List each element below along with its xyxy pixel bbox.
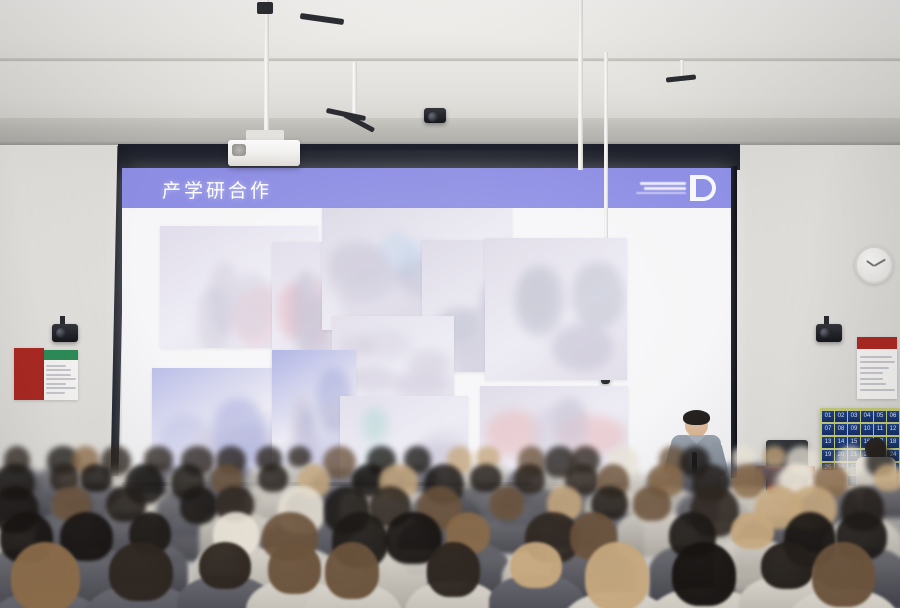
presenter-hair <box>683 410 710 425</box>
pocket-slot: 04 <box>861 411 873 422</box>
audience-shoulders <box>89 512 163 559</box>
logo-text-line-3 <box>636 192 686 194</box>
photo-shape <box>519 272 555 325</box>
institute-logo <box>612 174 716 202</box>
audience-shoulders <box>199 511 271 556</box>
pocket-slot: 12 <box>887 424 899 435</box>
pocket-slot: 11 <box>874 424 886 435</box>
slide-photo <box>340 396 468 482</box>
audience-shoulders <box>304 521 389 583</box>
audience-head <box>0 512 53 563</box>
pocket-slot: 14 <box>835 437 847 448</box>
photo-shape <box>359 330 411 359</box>
photo-shape <box>408 349 448 378</box>
poster-text-line <box>46 392 65 394</box>
poster-header <box>857 337 897 349</box>
slide-photo <box>480 386 628 482</box>
photo-shape <box>197 286 232 348</box>
audience-shoulders <box>649 545 735 605</box>
projector-pole <box>264 0 269 142</box>
poster-text-line <box>860 361 895 363</box>
audience-head <box>60 512 113 561</box>
photo-shape <box>299 409 318 478</box>
safety-notice-poster <box>857 337 897 399</box>
photo-shape <box>209 262 239 335</box>
photo-shape <box>419 429 465 475</box>
audience-shoulders <box>246 580 344 608</box>
ceiling-rod-1 <box>352 62 357 120</box>
audience-head <box>427 542 479 597</box>
audience-shoulders <box>37 547 135 608</box>
chair-right-1 <box>818 470 848 506</box>
slide-title: 产学研合作 <box>162 176 272 203</box>
audience-shoulders <box>164 513 232 562</box>
audience-head <box>213 512 260 556</box>
poster-text-line <box>860 372 883 374</box>
pocket-row: 010203040506 <box>822 411 900 422</box>
ceiling-projector <box>228 140 300 166</box>
audience-head <box>109 542 173 601</box>
photo-shape <box>553 398 586 443</box>
poster-header <box>44 350 78 360</box>
photo-shape <box>572 262 624 328</box>
audience-head <box>570 512 617 560</box>
seated-person-right <box>856 438 896 494</box>
audience-shoulders <box>0 592 109 608</box>
photo-shape <box>212 398 265 465</box>
audience-head <box>510 542 562 588</box>
audience-head <box>11 542 80 608</box>
poster-text-line <box>46 383 66 385</box>
logo-text-line-2 <box>644 187 686 190</box>
poster-text-line <box>860 356 892 358</box>
pocket-row: 070809101112 <box>822 424 900 435</box>
audience-shoulders <box>533 510 597 554</box>
audience-head <box>129 512 171 554</box>
pocket-slot: 19 <box>822 450 834 461</box>
photo-shape <box>552 324 613 371</box>
handheld-microphone <box>692 452 697 474</box>
audience-shoulders <box>193 544 279 602</box>
slide-photo <box>485 238 627 380</box>
wooden-lectern <box>755 466 815 608</box>
audience-shoulders <box>308 552 411 608</box>
ceiling <box>0 0 900 62</box>
pocket-slot: 10 <box>861 424 873 435</box>
slide-header-band: 产学研合作 <box>122 168 736 208</box>
table-leg-left <box>636 515 641 545</box>
pocket-slot: 06 <box>887 411 899 422</box>
pocket-slot: 01 <box>822 411 834 422</box>
audience-shoulders <box>361 549 465 608</box>
audience-head <box>268 542 321 594</box>
seated-person-body <box>856 457 896 497</box>
pocket-slot: 03 <box>848 411 860 422</box>
wall-clock <box>855 246 893 284</box>
photo-shape <box>364 445 391 482</box>
audience-head <box>325 542 379 599</box>
wall-camera-right <box>816 324 842 342</box>
audience-shoulders <box>177 576 273 608</box>
table-leg-right <box>732 515 737 545</box>
logo-text-lines <box>636 182 686 194</box>
audience-shoulders <box>489 575 584 608</box>
logo-d-mark <box>690 175 716 201</box>
lectern-top <box>755 466 815 479</box>
audience-shoulders <box>238 547 341 608</box>
photo-shape <box>293 398 311 445</box>
photo-shape <box>190 430 218 478</box>
audience-shoulders <box>405 581 501 608</box>
pocket-slot: 02 <box>835 411 847 422</box>
audience-shoulders <box>0 549 76 608</box>
audience-shoulders <box>303 583 402 608</box>
poster-header <box>14 348 44 400</box>
audience-head <box>446 512 490 554</box>
audience-shoulders <box>0 520 59 581</box>
pocket-slot: 13 <box>822 437 834 448</box>
red-notice-poster <box>14 348 44 400</box>
photo-shape <box>278 283 308 339</box>
pocket-slot: 20 <box>835 450 847 461</box>
photo-shape <box>210 425 277 465</box>
logo-text-line-1 <box>640 182 686 185</box>
projector-pole-bracket <box>257 2 273 14</box>
photo-shape <box>229 273 273 338</box>
photo-shape <box>486 410 542 457</box>
photo-shape <box>556 415 625 454</box>
photo-shape <box>515 265 564 336</box>
poster-text-line <box>46 369 71 371</box>
poster-text-line <box>860 389 895 391</box>
audience-shoulders <box>83 585 201 608</box>
photo-shape <box>292 271 319 354</box>
poster-text-line <box>860 383 886 385</box>
upper-wall <box>0 62 900 124</box>
audience-head <box>332 512 388 568</box>
photo-shape <box>392 371 447 396</box>
audience-shoulders <box>428 542 509 597</box>
audience-head <box>672 542 736 606</box>
ceiling-seam <box>0 58 900 61</box>
ceiling-camera <box>424 108 446 123</box>
projector-lens <box>232 144 246 156</box>
poster-text-line <box>46 378 75 380</box>
pocket-slot: 09 <box>848 424 860 435</box>
chair-right-2 <box>748 494 774 524</box>
screen-frame-right <box>731 166 737 488</box>
green-notice-poster <box>44 350 78 400</box>
pocket-slot: 05 <box>874 411 886 422</box>
photo-shape <box>292 393 315 445</box>
photo-shape <box>158 415 214 477</box>
audience-head <box>385 512 442 564</box>
photo-shape <box>403 443 464 467</box>
audience-shoulders <box>502 548 603 608</box>
poster-text-line <box>46 365 65 367</box>
poster-text-line <box>46 374 71 376</box>
audience-head <box>525 512 580 563</box>
screen-top-band <box>118 144 740 170</box>
presenter-hand-right <box>701 468 711 478</box>
audience-shoulders <box>550 547 637 608</box>
presenter-hand-left <box>682 468 692 478</box>
photo-shape <box>329 241 384 285</box>
poster-text-line <box>46 387 76 389</box>
ceiling-beam <box>0 118 900 144</box>
audience-shoulders <box>398 517 482 574</box>
poster-text-line <box>860 367 890 369</box>
photo-shape <box>531 406 588 457</box>
lecture-hall-photo: 产学研合作 <box>0 0 900 608</box>
clock-minute-hand <box>874 259 886 267</box>
projection-screen: 产学研合作 <box>122 168 736 484</box>
audience-shoulders <box>475 510 539 554</box>
ceiling-rod-2 <box>578 0 583 170</box>
audience-shoulders <box>558 592 676 608</box>
audience-shoulders <box>351 516 428 569</box>
wall-camera-left <box>52 324 78 342</box>
audience-shoulders <box>259 521 344 583</box>
presenter <box>668 412 724 490</box>
pocket-slot: 08 <box>835 424 847 435</box>
photo-shape <box>328 249 397 302</box>
photo-shape <box>523 448 559 478</box>
audience-head <box>262 512 318 561</box>
audience-head <box>585 542 649 608</box>
audience-shoulders <box>112 543 189 598</box>
photo-shape <box>378 232 417 283</box>
photo-shape <box>287 428 326 478</box>
photo-shape <box>362 407 388 442</box>
audience-head <box>199 542 251 589</box>
slide-photo-collage <box>122 208 736 484</box>
audience-shoulders <box>35 511 107 557</box>
pocket-slot: 07 <box>822 424 834 435</box>
poster-text-line <box>860 378 883 380</box>
